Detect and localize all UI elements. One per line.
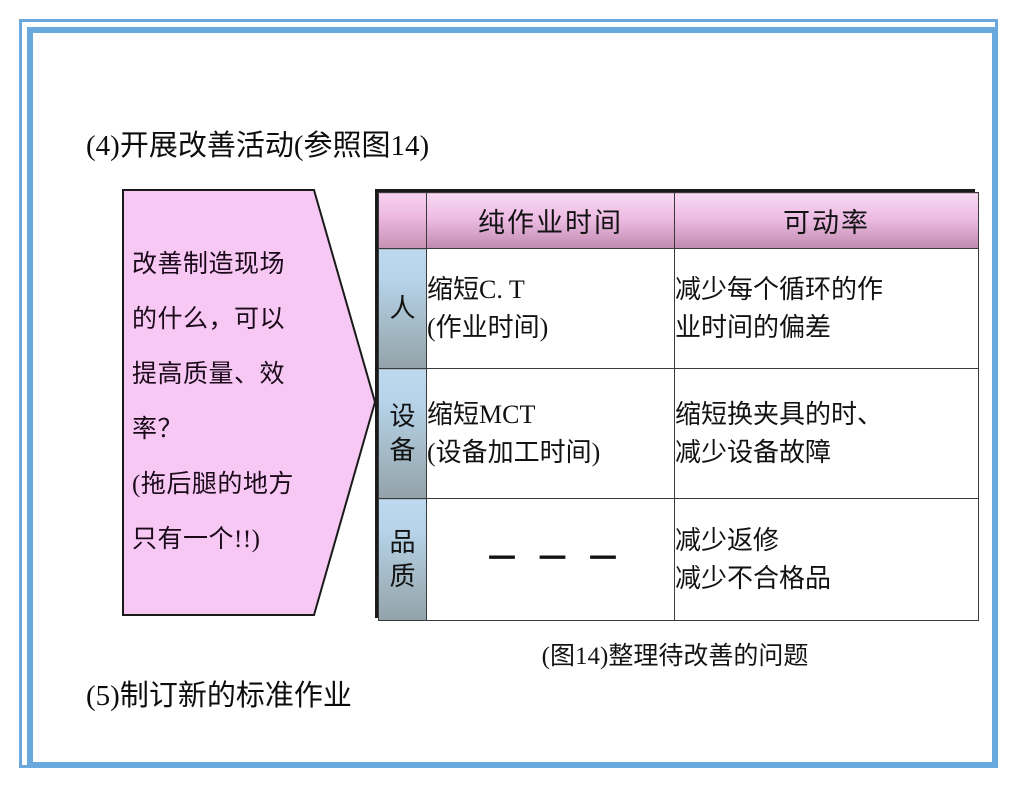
callout-line-4: 率？ (132, 402, 328, 457)
cell-quality-work-time: － － － (427, 499, 675, 621)
cell-quality-availability: 减少返修 减少不合格品 (675, 499, 979, 621)
pink-callout-arrow: 改善制造现场 的什么，可以 提高质量、效 率？ (拖后腿的地方 只有一个!!) (122, 189, 376, 616)
slide-content: (4)开展改善活动(参照图14) 改善制造现场 的什么，可以 提高质量、效 率？… (0, 0, 1030, 790)
page-title-step5: (5)制订新的标准作业 (86, 681, 352, 713)
page-title-step4: (4)开展改善活动(参照图14) (86, 131, 429, 163)
figure-caption: (图14)整理待改善的问题 (375, 636, 975, 672)
table-row: 人 缩短C. T (作业时间) 减少每个循环的作 业时间的偏差 (379, 249, 979, 369)
cell-line: 减少每个循环的作 (675, 271, 978, 309)
callout-text-block: 改善制造现场 的什么，可以 提高质量、效 率？ (拖后腿的地方 只有一个!!) (132, 237, 328, 567)
row-label-equipment: 设 备 (379, 369, 427, 499)
cell-line: 缩短MCT (427, 396, 674, 434)
row-label-char: 备 (379, 434, 426, 468)
improvement-matrix-table: 纯作业时间 可动率 人 缩短C. T (作业时间) (375, 189, 975, 618)
table-header-corner (379, 193, 427, 249)
row-label-char: 品 (379, 526, 426, 560)
callout-line-2: 的什么，可以 (132, 292, 328, 347)
table-row: 设 备 缩短MCT (设备加工时间) 缩短换夹具的时、 减少设备故障 (379, 369, 979, 499)
cell-line: 减少不合格品 (675, 560, 978, 598)
slide-page: (4)开展改善活动(参照图14) 改善制造现场 的什么，可以 提高质量、效 率？… (0, 0, 1030, 790)
row-label-char: 质 (379, 560, 426, 594)
callout-line-6: 只有一个!!) (132, 512, 328, 567)
table-row: 品 质 － － － 减少返修 减少不合格品 (379, 499, 979, 621)
callout-line-3: 提高质量、效 (132, 347, 328, 402)
callout-line-1: 改善制造现场 (132, 237, 328, 292)
table-header-availability: 可动率 (675, 193, 979, 249)
cell-person-work-time: 缩短C. T (作业时间) (427, 249, 675, 369)
callout-line-5: (拖后腿的地方 (132, 457, 328, 512)
row-label-person: 人 (379, 249, 427, 369)
table-header-work-time: 纯作业时间 (427, 193, 675, 249)
cell-line: (设备加工时间) (427, 434, 674, 472)
row-label-quality: 品 质 (379, 499, 427, 621)
cell-line: (作业时间) (427, 309, 674, 347)
cell-line: 缩短换夹具的时、 (675, 396, 978, 434)
cell-line: 减少返修 (675, 522, 978, 560)
row-label-char: 人 (379, 292, 426, 326)
cell-equipment-work-time: 缩短MCT (设备加工时间) (427, 369, 675, 499)
table-header-row: 纯作业时间 可动率 (379, 193, 979, 249)
cell-line: 减少设备故障 (675, 434, 978, 472)
row-label-char: 设 (379, 400, 426, 434)
cell-line: 缩短C. T (427, 271, 674, 309)
cell-person-availability: 减少每个循环的作 业时间的偏差 (675, 249, 979, 369)
cell-line: 业时间的偏差 (675, 309, 978, 347)
cell-equipment-availability: 缩短换夹具的时、 减少设备故障 (675, 369, 979, 499)
